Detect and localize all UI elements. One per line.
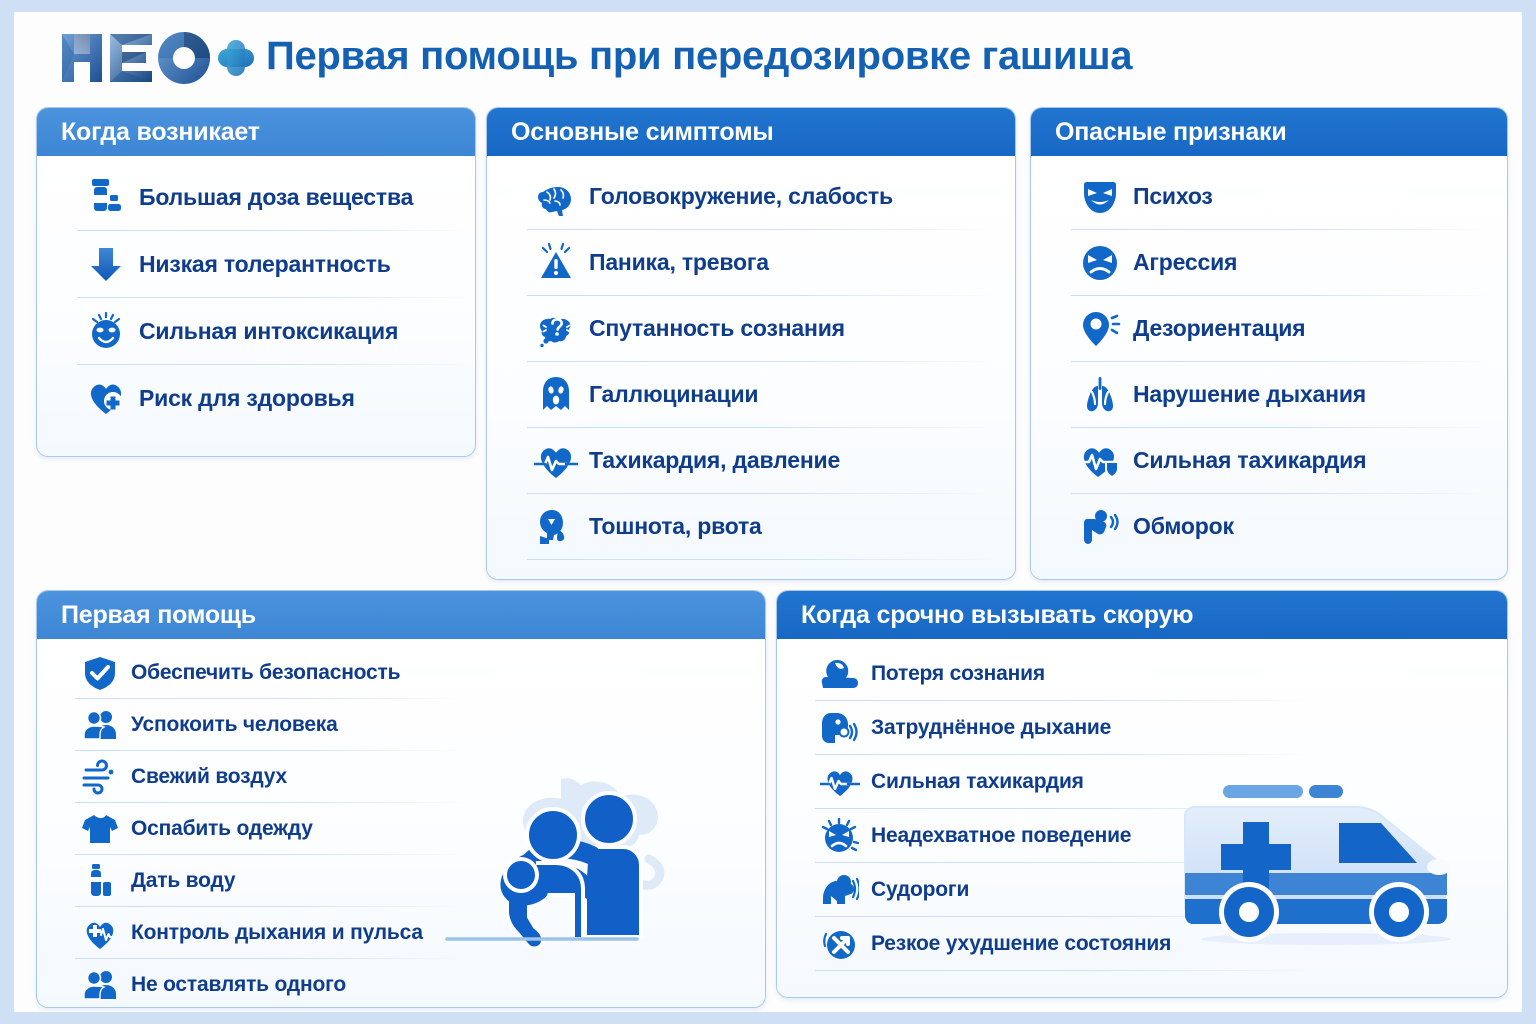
list-item-label: Контроль дыхания и пульса [131,921,423,945]
list-item-label: Оспабить одежду [131,817,313,841]
card-danger-body: Психоз Агрессия [1031,156,1507,579]
list-item[interactable]: Агрессия [1031,230,1507,295]
lungs-icon [1077,372,1123,418]
ghost-icon [533,372,579,418]
card-danger-title: Опасные признаки [1031,108,1507,156]
list-item-label: Сильная тахикардия [1133,447,1366,474]
infographic-page: Первая помощь при передозировке гашиша К… [14,12,1522,1012]
list-item-label: Спутанность сознания [589,315,845,342]
list-item-label: Психоз [1133,183,1213,210]
convulsion-icon [819,870,861,910]
card-when-body: Большая доза вещества Низкая толерантнос… [37,156,475,456]
list-item[interactable]: Головокружение, слабость [487,164,1015,229]
list-item[interactable]: Низкая толерантность [37,231,475,297]
card-first-aid: Первая помощь Обеспечить безопасность [36,590,766,1008]
list-item-label: Тошнота, рвота [589,513,762,540]
water-bottle-icon [79,861,121,901]
list-item-label: Сильная интоксикация [139,318,398,345]
list-item[interactable]: Риск для здоровья [37,365,475,431]
card-main-symptoms: Основные симптомы Головокружение, слабос… [486,107,1016,580]
decline-arrow-icon [819,924,861,964]
brain-icon [533,174,579,220]
list-item-label: Судороги [871,878,969,902]
list-item-label: Обеспечить безопасность [131,661,400,685]
wind-icon [79,757,121,797]
heart-pulse-shield-icon [1077,438,1123,484]
list-item[interactable]: Психоз [1031,164,1507,229]
down-arrow-icon [83,241,129,287]
list-item[interactable]: Обеспечить безопасность [37,647,765,698]
list-item-label: Тахикардия, давление [589,447,840,474]
list-item-label: Затруднённое дыхание [871,716,1111,740]
list-item[interactable]: Большая доза вещества [37,164,475,230]
list-item-label: Риск для здоровья [139,385,355,412]
card-emergency-title: Когда срочно вызывать скорую [777,591,1507,639]
list-item-label: Дать воду [131,869,235,893]
list-item-label: Паника, тревога [589,249,769,276]
list-item[interactable]: Паника, тревога [487,230,1015,295]
list-item-label: Свежий воздух [131,765,287,789]
list-item-label: Не оставлять одного [131,973,346,997]
card-symptoms-body: Головокружение, слабость Паника, тревога [487,156,1015,579]
list-item-label: Резкое ухудшение состояния [871,932,1171,956]
list-item-label: Дезориентация [1133,315,1305,342]
list-item[interactable]: Потеря сознания [777,647,1507,700]
location-pin-icon [1077,306,1123,352]
page-header: Первая помощь при передозировке гашиша [14,12,1522,104]
heart-pulse-icon [533,438,579,484]
two-people-icon [79,705,121,745]
list-item[interactable]: Обморок [1031,494,1507,559]
pill-bottle-icon [83,174,129,220]
heart-cross-pulse-icon [79,913,121,953]
list-item[interactable]: Нарушение дыхания [1031,362,1507,427]
breathing-difficulty-icon [819,708,861,748]
agitated-face-icon [819,816,861,856]
list-item[interactable]: Тахикардия, давление [487,428,1015,493]
two-people-hugging-illustration [441,747,741,997]
card-call-ambulance: Когда срочно вызывать скорую Потеря созн… [776,590,1508,998]
list-item[interactable]: Спутанность сознания [487,296,1015,361]
list-item-label: Потеря сознания [871,662,1045,686]
evil-mask-icon [1077,174,1123,220]
tshirt-icon [79,809,121,849]
unconscious-person-icon [819,654,861,694]
list-item[interactable]: Сильная тахикардия [1031,428,1507,493]
list-item[interactable]: Галлюцинации [487,362,1015,427]
list-item-label: Успокоить человека [131,713,338,737]
page-title: Первая помощь при передозировке гашиша [266,34,1132,79]
list-item[interactable]: Дезориентация [1031,296,1507,361]
fainting-person-icon [1077,504,1123,550]
dizzy-face-icon [83,308,129,354]
list-item-label: Обморок [1133,513,1234,540]
separator [815,970,1315,971]
heart-cross-icon [83,375,129,421]
shield-check-icon [79,653,121,693]
card-firstaid-title: Первая помощь [37,591,765,639]
list-item-label: Сильная тахикардия [871,770,1084,794]
list-item[interactable]: Затруднённое дыхание [777,701,1507,754]
list-item[interactable]: Тошнота, рвота [487,494,1015,559]
list-item[interactable]: Сильная интоксикация [37,298,475,364]
list-item-label: Агрессия [1133,249,1237,276]
neo-plus-logo [56,28,256,88]
list-item-label: Галлюцинации [589,381,758,408]
card-when-occurs: Когда возникает Большая доза вещества [36,107,476,457]
list-item-label: Большая доза вещества [139,184,413,211]
card-symptoms-title: Основные симптомы [487,108,1015,156]
list-item-label: Нарушение дыхания [1133,381,1366,408]
card-when-title: Когда возникает [37,108,475,156]
ambulance-illustration [1171,767,1481,957]
vomit-icon [533,504,579,550]
two-people-icon [79,965,121,1005]
heart-pulse-icon [819,762,861,802]
separator [527,559,997,560]
list-item-label: Низкая толерантность [139,251,391,278]
card-danger-signs: Опасные признаки Психоз [1030,107,1508,580]
list-item-label: Неадехватное поведение [871,824,1131,848]
card-firstaid-body: Обеспечить безопасность Успокоить челове… [37,639,765,1007]
list-item[interactable]: Успокоить человека [37,699,765,750]
list-item-label: Головокружение, слабость [589,183,893,210]
angry-face-icon [1077,240,1123,286]
warning-triangle-icon [533,240,579,286]
card-emergency-body: Потеря сознания Затруднённое дыхание [777,639,1507,997]
thought-question-icon [533,306,579,352]
